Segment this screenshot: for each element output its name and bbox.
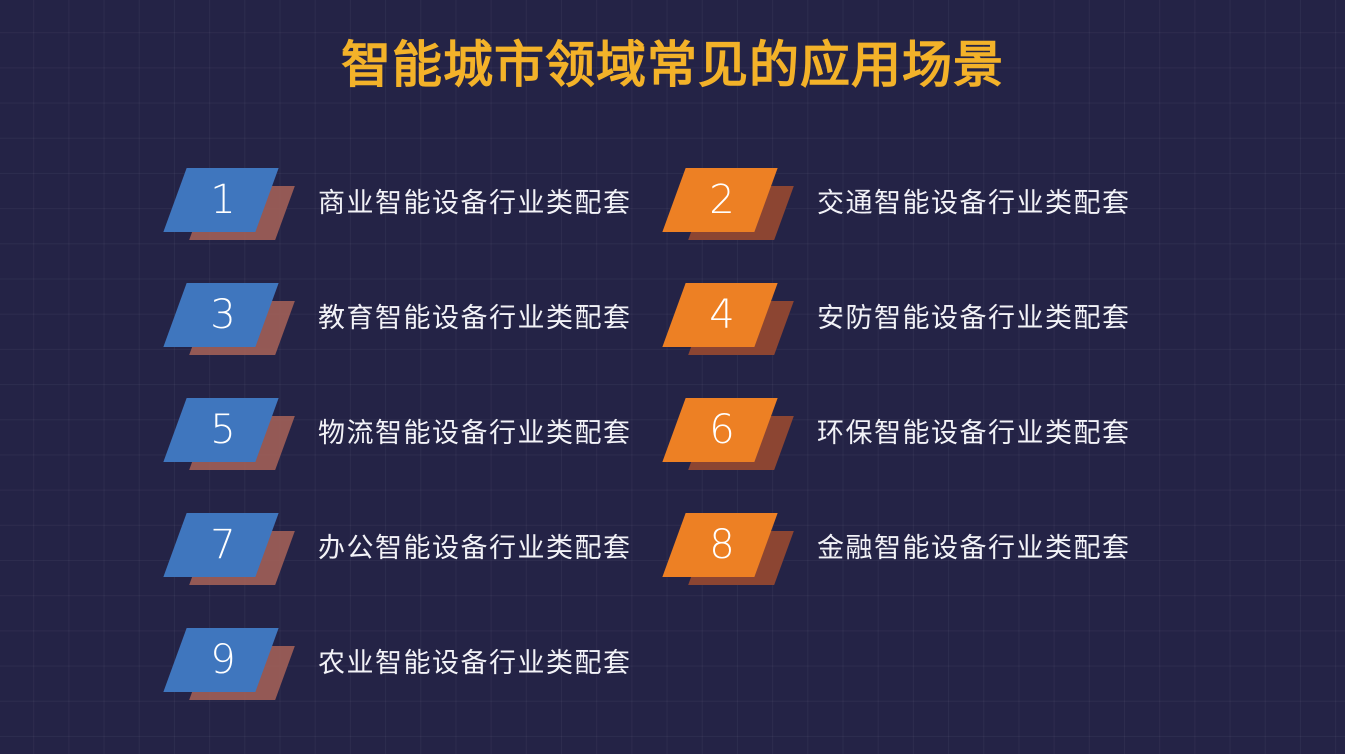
item-number-badge: 1 [173,168,291,238]
item-number: 1 [173,168,273,232]
item-number: 4 [672,283,772,347]
item-label: 安防智能设备行业类配套 [817,283,1131,347]
application-scenarios-list: 1商业智能设备行业类配套2交通智能设备行业类配套3教育智能设备行业类配套4安防智… [0,168,1345,728]
item-number: 7 [173,513,273,577]
item-number-badge: 5 [173,398,291,468]
item-number-badge: 8 [672,513,790,583]
item-number-badge: 4 [672,283,790,353]
item-label: 农业智能设备行业类配套 [318,628,632,692]
item-number: 5 [173,398,273,462]
item-number: 3 [173,283,273,347]
item-number: 9 [173,628,273,692]
item-label: 金融智能设备行业类配套 [817,513,1131,577]
page-title: 智能城市领域常见的应用场景 [0,35,1345,95]
item-label: 交通智能设备行业类配套 [817,168,1131,232]
item-number-badge: 2 [672,168,790,238]
item-label: 商业智能设备行业类配套 [318,168,632,232]
item-number: 8 [672,513,772,577]
item-number-badge: 3 [173,283,291,353]
item-label: 办公智能设备行业类配套 [318,513,632,577]
item-number: 6 [672,398,772,462]
item-label: 环保智能设备行业类配套 [817,398,1131,462]
item-label: 教育智能设备行业类配套 [318,283,632,347]
item-number-badge: 6 [672,398,790,468]
item-number-badge: 9 [173,628,291,698]
item-number-badge: 7 [173,513,291,583]
item-number: 2 [672,168,772,232]
item-label: 物流智能设备行业类配套 [318,398,632,462]
